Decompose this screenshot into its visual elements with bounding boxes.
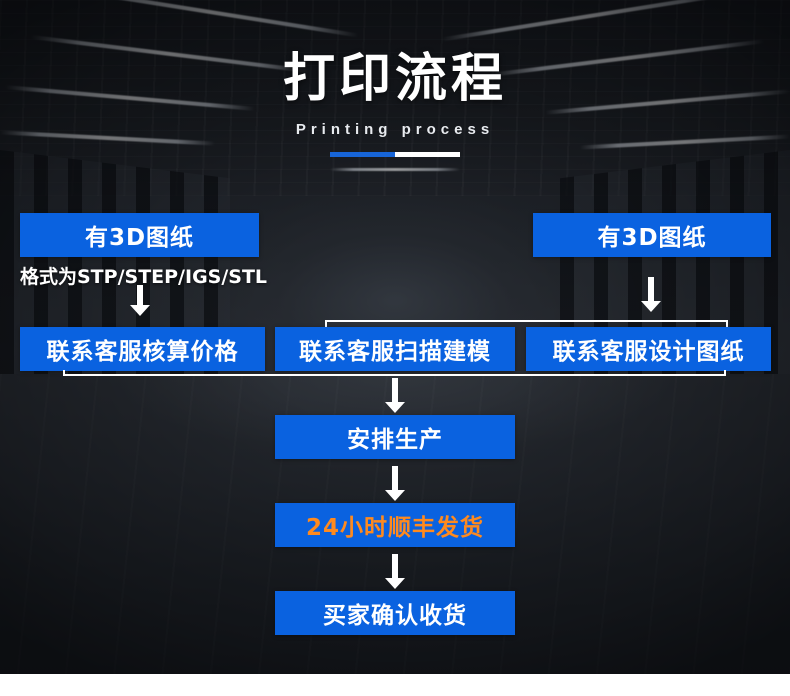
flow-box-have-3d-drawing-left[interactable]: 有3D图纸 [20, 213, 259, 257]
page-subtitle: Printing process [0, 121, 790, 138]
flow-box-have-3d-drawing-right[interactable]: 有3D图纸 [533, 213, 771, 257]
flow-box-arrange-production[interactable]: 安排生产 [275, 415, 515, 459]
flow-box-contact-design-drawing[interactable]: 联系客服设计图纸 [526, 327, 771, 371]
flow-box-label: 联系客服核算价格 [47, 332, 239, 366]
flow-box-label: 有3D图纸 [597, 218, 706, 252]
divider-blue-segment [330, 152, 395, 157]
flow-box-contact-scan-model[interactable]: 联系客服扫描建模 [275, 327, 515, 371]
page-title: 打印流程 [0, 52, 790, 107]
flow-box-contact-price[interactable]: 联系客服核算价格 [20, 327, 265, 371]
flow-box-label: 有3D图纸 [85, 218, 194, 252]
bracket-bottom-left-stub [63, 370, 65, 376]
title-divider [330, 152, 460, 157]
bracket-bottom-horizontal [63, 374, 726, 376]
bracket-bottom-right-stub [724, 370, 726, 376]
flow-box-buyer-confirm-receipt[interactable]: 买家确认收货 [275, 591, 515, 635]
flow-box-label: 安排生产 [347, 420, 443, 454]
bottom-white-strip [0, 674, 790, 696]
arrow-down-icon [129, 285, 151, 317]
flow-box-ship-24h-sf[interactable]: 24小时顺丰发货 [275, 503, 515, 547]
flow-box-label: 买家确认收货 [323, 596, 467, 630]
header: 打印流程 Printing process [0, 52, 790, 157]
flow-box-label: 联系客服设计图纸 [553, 332, 745, 366]
flow-box-label: 联系客服扫描建模 [299, 332, 491, 366]
flow-box-label: 24小时顺丰发货 [306, 508, 484, 542]
arrow-down-icon [384, 378, 406, 414]
flowchart-poster: 打印流程 Printing process 有3D图纸 有3D图纸 格式为STP… [0, 0, 790, 696]
divider-white-segment [395, 152, 460, 157]
arrow-down-icon [640, 277, 662, 313]
arrow-down-icon [384, 554, 406, 590]
bracket-top-horizontal [325, 320, 728, 322]
arrow-down-icon [384, 466, 406, 502]
